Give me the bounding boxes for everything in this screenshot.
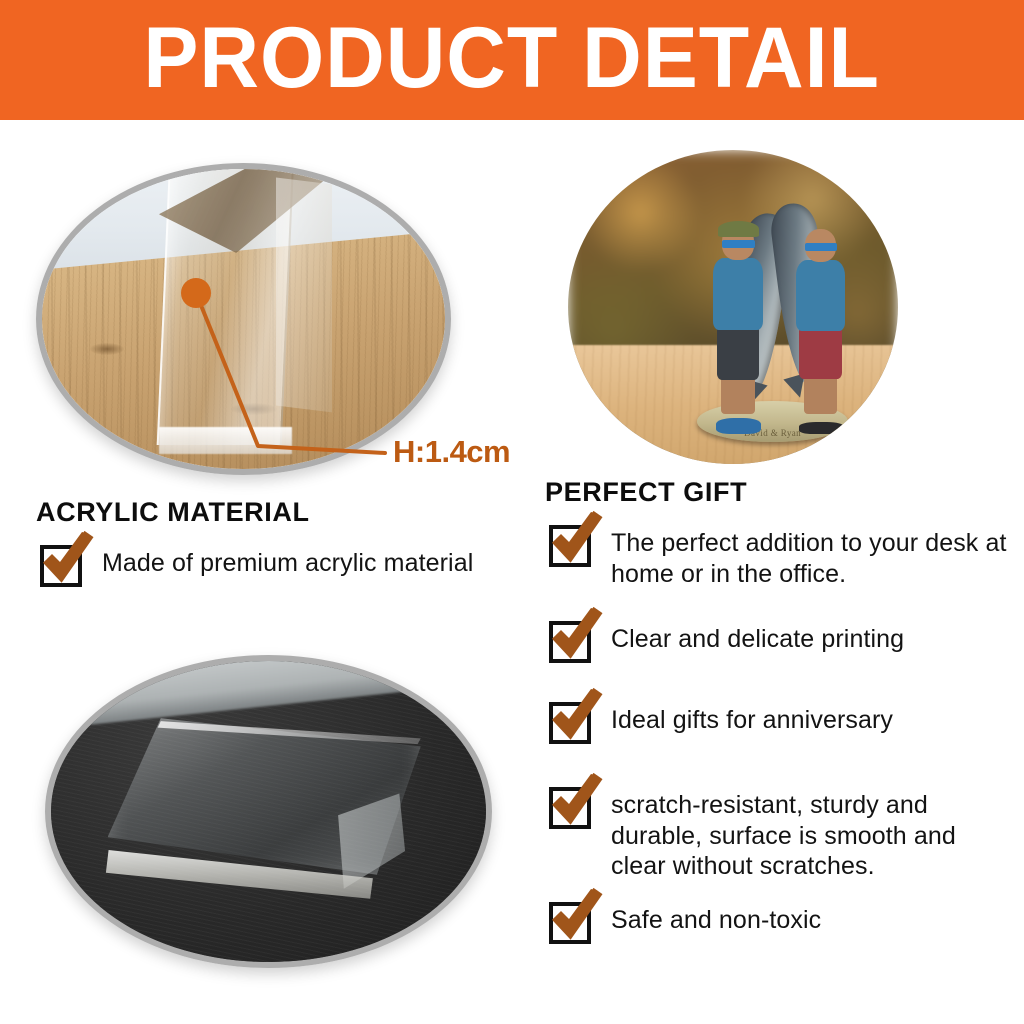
feature-text: Clear and delicate printing (611, 619, 904, 655)
product-detail-page: PRODUCT DETAIL David & Ryan (0, 0, 1024, 1024)
figurine-scene: David & Ryan (568, 150, 898, 464)
section-heading-acrylic-material: ACRYLIC MATERIAL (36, 497, 310, 528)
feature-item: Made of premium acrylic material (40, 543, 520, 587)
height-callout-label: H:1.4cm (393, 434, 510, 470)
person-shoes (716, 418, 762, 434)
checkbox-checked-icon (40, 545, 82, 587)
fishermen-figurine-photo: David & Ryan (568, 150, 898, 464)
checkbox-checked-icon (549, 787, 591, 829)
checkmark-icon (548, 689, 606, 739)
checkmark-icon (548, 512, 606, 562)
person-shorts (717, 326, 760, 380)
person-sandals (799, 422, 844, 434)
person-cap (718, 221, 760, 237)
checkmark-icon (548, 889, 606, 939)
feature-item: Safe and non-toxic (549, 900, 1011, 944)
acrylic-slab-base-highlight (159, 427, 292, 454)
checkbox-checked-icon (549, 902, 591, 944)
feature-text: The perfect addition to your desk at hom… (611, 523, 1011, 589)
checkbox-checked-icon (549, 525, 591, 567)
page-title: PRODUCT DETAIL (144, 15, 881, 105)
checkmark-icon (548, 608, 606, 658)
wood-table-scene (42, 169, 445, 469)
person-sunglasses (805, 243, 838, 251)
feature-item: Ideal gifts for anniversary (549, 700, 1011, 744)
header-banner: PRODUCT DETAIL (0, 0, 1024, 120)
feature-item: Clear and delicate printing (549, 619, 1011, 663)
checkmark-icon (39, 532, 97, 582)
acrylic-block-on-slate-photo (45, 655, 492, 968)
person-legs (721, 374, 755, 414)
checkbox-checked-icon (549, 702, 591, 744)
feature-item: scratch-resistant, sturdy and durable, s… (549, 785, 1011, 882)
person-legs (804, 375, 838, 415)
figurine-person-right (792, 229, 848, 427)
checkmark-icon (548, 774, 606, 824)
person-torso (713, 258, 762, 330)
acrylic-slab-right-face (276, 178, 332, 413)
feature-text: scratch-resistant, sturdy and durable, s… (611, 785, 1011, 882)
feature-text: Made of premium acrylic material (102, 543, 473, 579)
slate-scene (51, 661, 486, 962)
figurine-person-left (710, 225, 766, 426)
feature-text: Ideal gifts for anniversary (611, 700, 893, 736)
person-torso (796, 260, 845, 331)
person-shorts (799, 327, 842, 378)
checkbox-checked-icon (549, 621, 591, 663)
feature-item: The perfect addition to your desk at hom… (549, 523, 1011, 589)
person-sunglasses (722, 240, 755, 248)
acrylic-edge-on-wood-photo (36, 163, 451, 475)
section-heading-perfect-gift: PERFECT GIFT (545, 477, 747, 508)
feature-text: Safe and non-toxic (611, 900, 821, 936)
